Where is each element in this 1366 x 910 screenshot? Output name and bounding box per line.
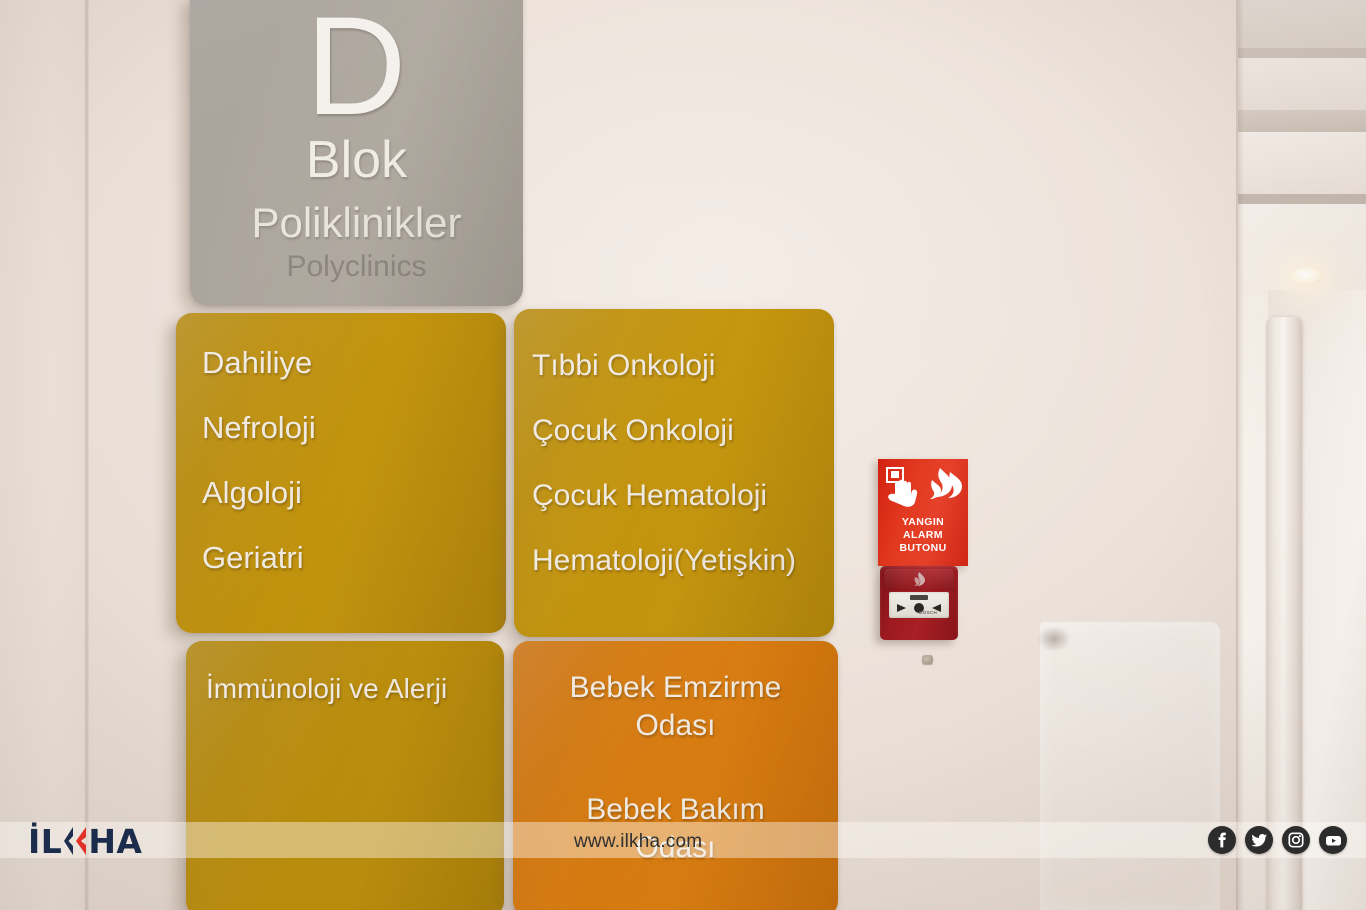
instagram-button[interactable] bbox=[1282, 826, 1310, 854]
list-item: Algoloji bbox=[202, 477, 490, 508]
signage-photo-scene: D Blok Poliklinikler Polyclinics Dahiliy… bbox=[0, 0, 1366, 910]
fire-alarm-call-point[interactable]: BOSCH bbox=[880, 566, 958, 640]
fire-alarm-label: YANGIN ALARM BUTONU bbox=[878, 516, 968, 555]
twitter-icon bbox=[1251, 832, 1268, 849]
youtube-button[interactable] bbox=[1319, 826, 1347, 854]
list-item: Çocuk Onkoloji bbox=[532, 416, 818, 446]
fire-alarm-label-line: ALARM bbox=[878, 529, 968, 542]
block-letter: D bbox=[190, 0, 523, 136]
wall-scuff-mark bbox=[1037, 626, 1071, 652]
list-item: İmmünoloji ve Alerji bbox=[206, 675, 488, 703]
wall-anchor-plug bbox=[922, 655, 933, 664]
ceiling-slab bbox=[1238, 132, 1366, 194]
facebook-button[interactable] bbox=[1208, 826, 1236, 854]
baby-rooms-panel: Bebek Emzirme Odası Bebek Bakım Odası bbox=[513, 641, 838, 910]
wall-left-return bbox=[0, 0, 88, 910]
youtube-icon bbox=[1325, 832, 1342, 849]
fire-alarm-label-line: BUTONU bbox=[878, 542, 968, 555]
watermark-url: www.ilkha.com bbox=[574, 831, 702, 853]
call-point-brand: BOSCH bbox=[919, 610, 937, 615]
ceiling-reveal bbox=[1238, 48, 1366, 58]
instagram-icon bbox=[1288, 832, 1304, 848]
logo-text-left: İL bbox=[28, 825, 62, 858]
list-item: Nefroloji bbox=[202, 412, 490, 443]
wall-corner-edge bbox=[84, 0, 89, 910]
list-item: Çocuk Hematoloji bbox=[532, 481, 818, 511]
corridor-edge-shadow bbox=[1236, 0, 1244, 910]
immunology-list: İmmünoloji ve Alerji bbox=[206, 675, 488, 737]
block-title-english: Polyclinics bbox=[190, 252, 523, 282]
block-title-turkish: Poliklinikler bbox=[190, 202, 523, 244]
list-item: Bebek Bakım bbox=[513, 795, 838, 825]
block-sign-panel: D Blok Poliklinikler Polyclinics bbox=[190, 0, 523, 306]
call-point-faceplate[interactable]: BOSCH bbox=[889, 592, 949, 618]
arrow-right-icon bbox=[897, 604, 906, 612]
facebook-icon bbox=[1214, 832, 1230, 848]
corridor-view bbox=[1238, 0, 1366, 910]
ceiling-reveal bbox=[1238, 110, 1366, 132]
logo-text-right: HA bbox=[88, 825, 142, 858]
ceiling-downlight bbox=[1290, 268, 1324, 285]
flame-icon bbox=[911, 571, 927, 588]
list-item: Dahiliye bbox=[202, 347, 490, 378]
ilkha-logo: İL HA bbox=[28, 824, 142, 858]
wall-corner-guard bbox=[1266, 317, 1302, 910]
ceiling-slab bbox=[1238, 0, 1366, 48]
list-item: Bebek Emzirme bbox=[513, 673, 838, 703]
departments-left-list: Dahiliye Nefroloji Algoloji Geriatri bbox=[202, 347, 490, 607]
call-point-slot bbox=[910, 595, 928, 600]
ceiling-slab bbox=[1238, 58, 1366, 110]
list-item: Geriatri bbox=[202, 542, 490, 573]
fire-alarm-sign: YANGIN ALARM BUTONU bbox=[878, 459, 968, 566]
fire-alarm-label-line: YANGIN bbox=[878, 516, 968, 529]
ceiling-reveal bbox=[1238, 194, 1366, 204]
departments-right-panel: Tıbbi Onkoloji Çocuk Onkoloji Çocuk Hema… bbox=[514, 309, 834, 637]
list-item: Odası bbox=[513, 711, 838, 741]
block-label: Blok bbox=[190, 134, 523, 186]
fire-alarm-pictogram bbox=[878, 464, 968, 514]
wall-patch-mark bbox=[1040, 622, 1220, 910]
departments-right-list: Tıbbi Onkoloji Çocuk Onkoloji Çocuk Hema… bbox=[532, 351, 818, 611]
list-item: Tıbbi Onkoloji bbox=[532, 351, 818, 381]
twitter-button[interactable] bbox=[1245, 826, 1273, 854]
logo-chevron-icon bbox=[62, 826, 88, 856]
list-item: Hematoloji(Yetişkin) bbox=[532, 546, 818, 576]
departments-left-panel: Dahiliye Nefroloji Algoloji Geriatri bbox=[176, 313, 506, 633]
hand-press-flame-icon bbox=[878, 464, 968, 514]
social-links bbox=[1208, 826, 1347, 854]
immunology-panel: İmmünoloji ve Alerji bbox=[186, 641, 504, 910]
